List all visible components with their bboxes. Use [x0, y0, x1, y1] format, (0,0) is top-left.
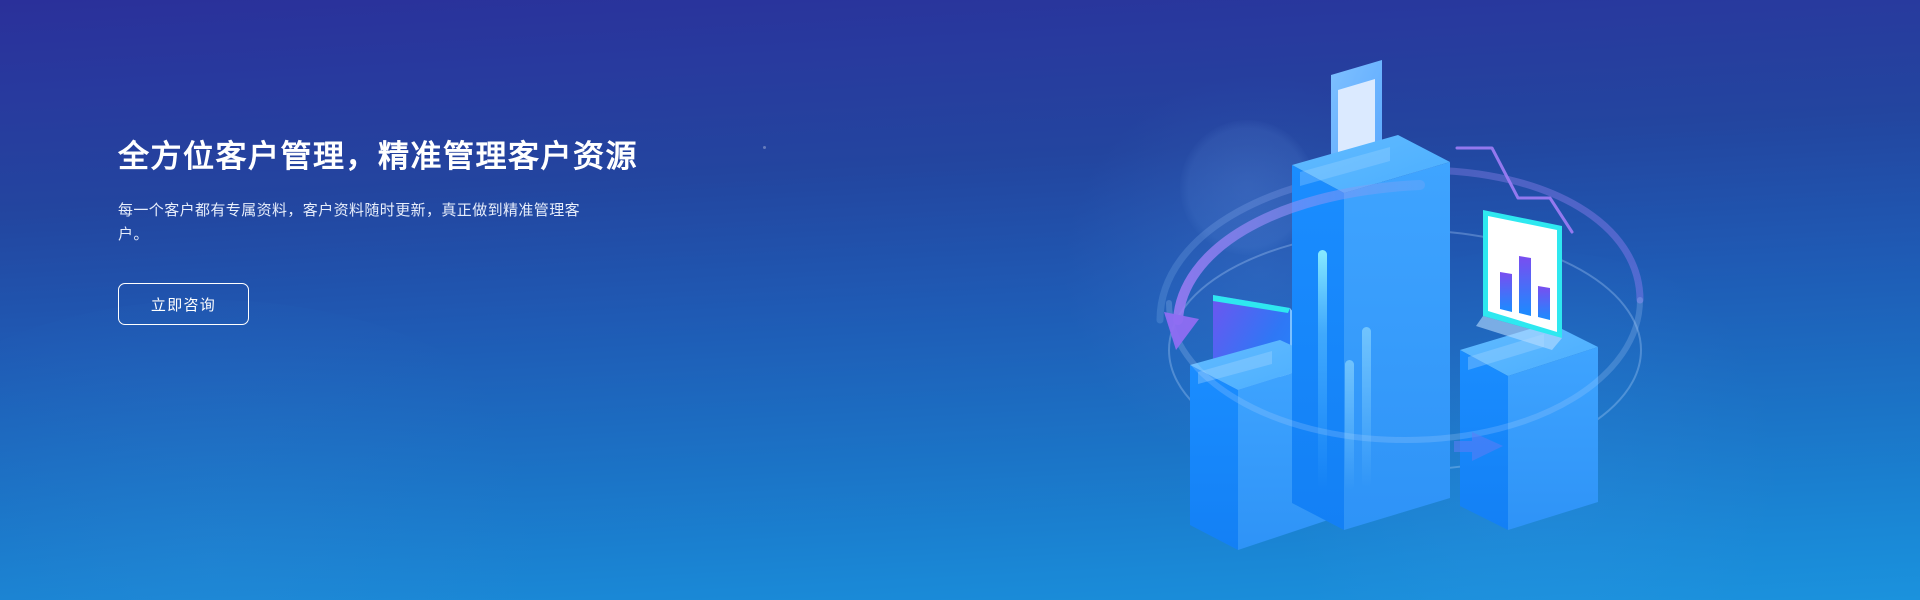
hero-banner: 全方位客户管理，精准管理客户资源 每一个客户都有专属资料，客户资料随时更新，真正… [0, 0, 1920, 600]
page-title: 全方位客户管理，精准管理客户资源 [118, 138, 758, 177]
center-pillar-group [1292, 60, 1450, 530]
hero-illustration [1120, 20, 1680, 580]
hero-subtitle: 每一个客户都有专属资料，客户资料随时更新，真正做到精准管理客户。 [118, 199, 596, 248]
center-pillar-side [1344, 162, 1450, 530]
decorative-speck [763, 146, 766, 149]
right-pillar-side [1508, 347, 1598, 530]
chart-bar-3 [1538, 286, 1550, 320]
background-glow-bottom-left [0, 300, 600, 600]
right-pillar-group [1460, 210, 1598, 530]
chart-bar-2 [1519, 256, 1531, 316]
chart-bar-1 [1500, 272, 1512, 312]
hero-copy: 全方位客户管理，精准管理客户资源 每一个客户都有专属资料，客户资料随时更新，真正… [118, 138, 758, 325]
consult-now-button[interactable]: 立即咨询 [118, 283, 249, 325]
